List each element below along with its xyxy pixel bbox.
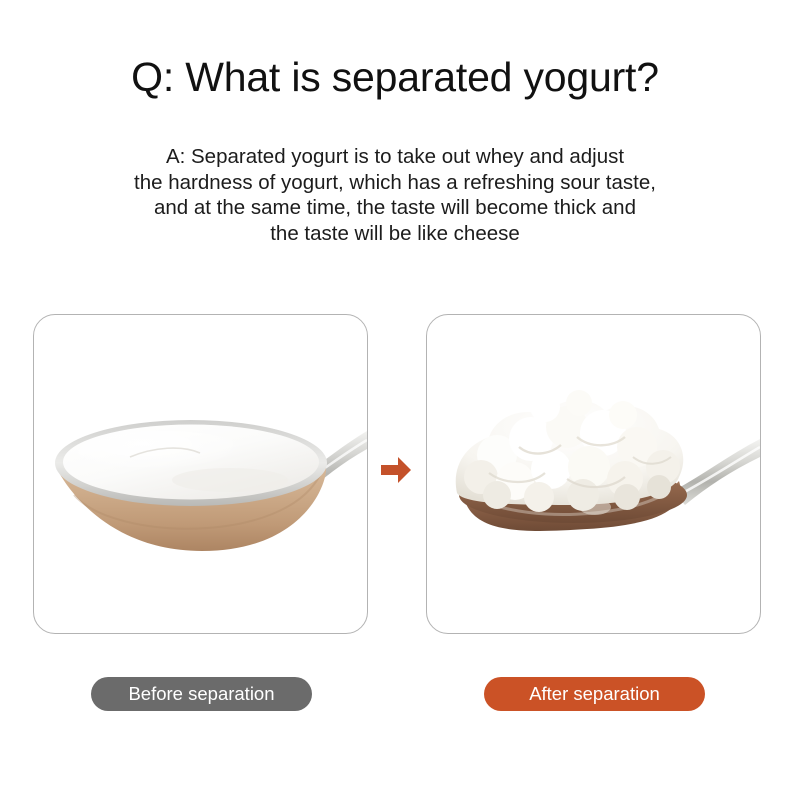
spoon-with-separated-curds-illustration xyxy=(427,315,760,633)
spoon-with-smooth-yogurt-illustration xyxy=(34,315,367,633)
answer-line-4: the taste will be like cheese xyxy=(0,221,790,247)
after-image-panel xyxy=(426,314,761,634)
infographic-page: Q: What is separated yogurt? A: Separate… xyxy=(0,0,790,789)
answer-line-3: and at the same time, the taste will bec… xyxy=(0,195,790,221)
after-caption-pill[interactable]: After separation xyxy=(484,677,705,711)
before-caption-pill[interactable]: Before separation xyxy=(91,677,312,711)
before-image-panel xyxy=(33,314,368,634)
separated-yogurt-curds xyxy=(456,390,684,512)
answer-paragraph: A: Separated yogurt is to take out whey … xyxy=(0,144,790,246)
answer-line-1: A: Separated yogurt is to take out whey … xyxy=(0,144,790,170)
handle-highlight xyxy=(679,447,760,495)
arrow-right-icon xyxy=(379,453,413,487)
question-heading: Q: What is separated yogurt? xyxy=(0,52,790,102)
answer-line-2: the hardness of yogurt, which has a refr… xyxy=(0,170,790,196)
yogurt-lower-shade xyxy=(172,468,288,492)
